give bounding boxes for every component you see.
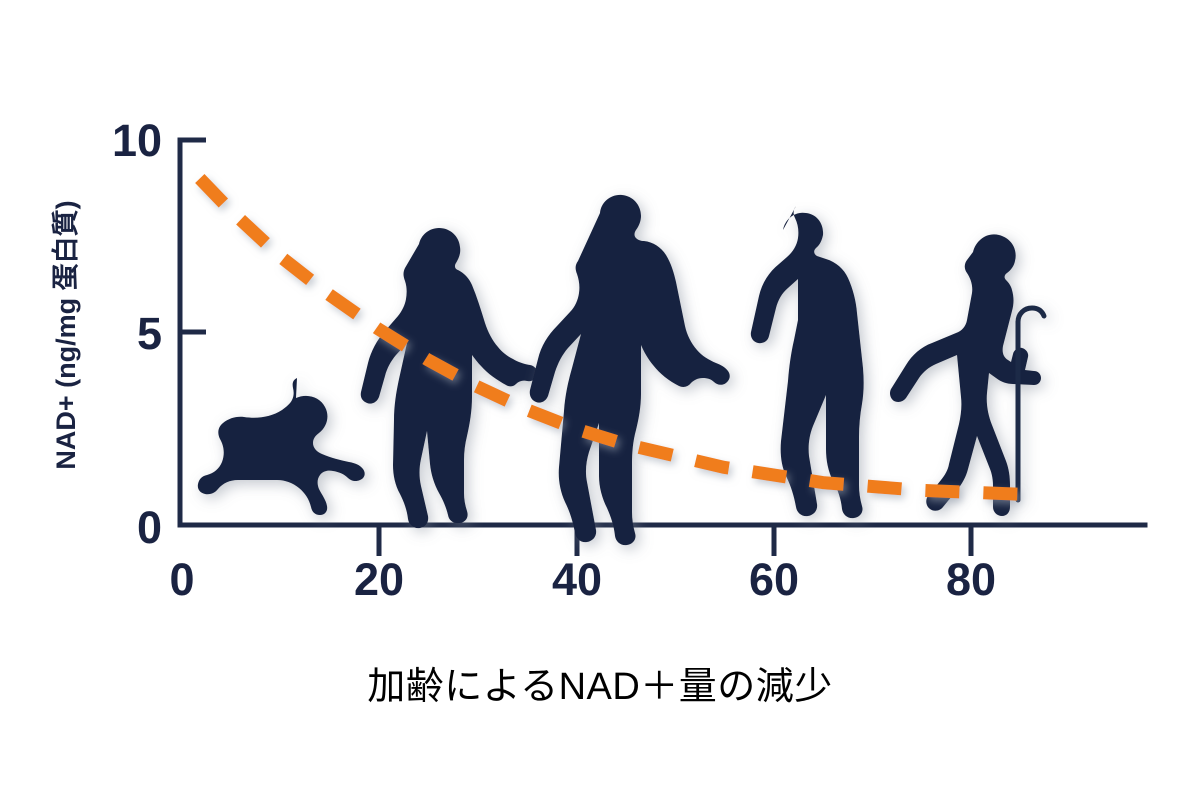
figure-caption: 加齢によるNAD＋量の減少 <box>0 655 1200 710</box>
y-tick-label-10: 10 <box>112 115 162 166</box>
y-axis-label: NAD+ (ng/mg 蛋白質) <box>50 200 81 469</box>
x-tick-label-40: 40 <box>552 554 602 605</box>
x-tick-label-60: 60 <box>749 554 799 605</box>
x-tick-label-20: 20 <box>354 554 404 605</box>
silhouette-adult <box>530 195 730 545</box>
nad-aging-figure: NAD+ (ng/mg 蛋白質) 10 5 0 0 20 40 60 80 <box>0 0 1200 800</box>
silhouette-infant <box>198 378 365 515</box>
y-tick-label-0: 0 <box>137 502 162 553</box>
x-tick-label-0: 0 <box>169 554 194 605</box>
x-tick-label-80: 80 <box>946 554 996 605</box>
cane <box>1018 308 1044 500</box>
y-tick-label-5: 5 <box>137 308 162 359</box>
silhouette-elderly <box>890 234 1044 516</box>
